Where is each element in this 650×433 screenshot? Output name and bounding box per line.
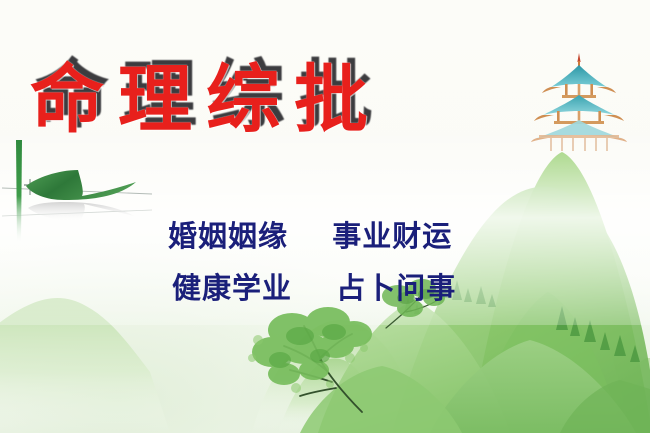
subtitle-line-2: 健康学业 占卜问事: [168, 262, 498, 314]
tree-icon: [236, 300, 386, 420]
poster-canvas: 命理综批 命理综批 婚姻姻缘 事业财运 健康学业 占卜问事: [0, 0, 650, 433]
poster-title: 命理综批 命理综批: [30, 52, 450, 148]
boat-icon: [2, 138, 152, 250]
poster-title-text: 命理综批: [30, 52, 450, 148]
pagoda-icon: [529, 47, 629, 152]
subtitle-2-left: 健康学业: [172, 271, 292, 305]
subtitle-1-right: 事业财运: [332, 219, 452, 253]
subtitle-line-1: 婚姻姻缘 事业财运: [168, 210, 498, 262]
subtitle-block: 婚姻姻缘 事业财运 健康学业 占卜问事: [168, 210, 498, 314]
subtitle-1-left: 婚姻姻缘: [168, 219, 288, 253]
subtitle-2-right: 占卜问事: [336, 271, 456, 305]
